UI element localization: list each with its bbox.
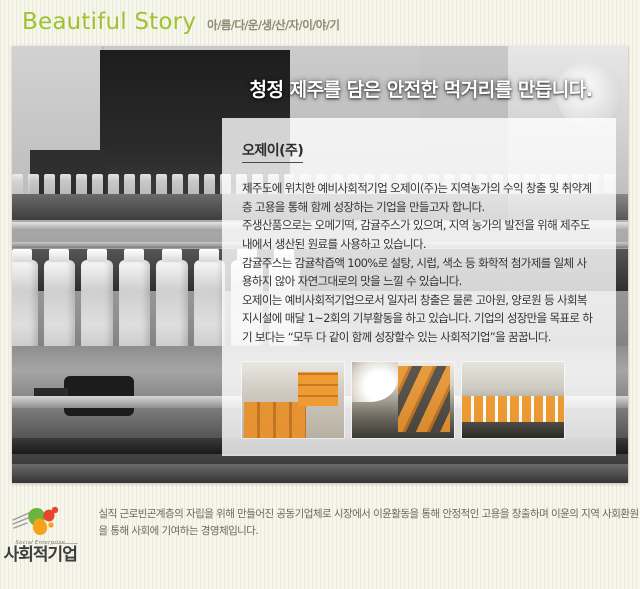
brand-subtitle: 아/름/다/운/생/산/자/이/야/기: [207, 17, 339, 33]
thumbnail-warehouse-boxes[interactable]: [242, 362, 344, 438]
thumbnail-gallery: [242, 362, 564, 438]
butterfly-logo-icon: [11, 504, 69, 538]
hero-headline: 청정 제주를 담은 안전한 먹거리를 만듭니다.: [222, 75, 620, 102]
footer-description: 실직 근로빈곤계층의 자립을 위해 만들어진 공동기업체로 시장에서 이윤활동을…: [98, 504, 640, 540]
social-enterprise-logo: Social Enterprise 사회적기업: [0, 504, 80, 564]
description-paragraph-2: 주생산품으로는 오메기떡, 감귤주스가 있으며, 지역 농가의 발전을 위해 제…: [242, 216, 596, 253]
logo-english-label: Social Enterprise: [0, 540, 80, 546]
thumbnail-production-machine[interactable]: [352, 362, 454, 438]
photo-lower-rail-c: [12, 464, 628, 483]
company-description: 제주도에 위치한 예비사회적기업 오제이(주)는 지역농가의 수익 창출 및 취…: [242, 179, 596, 347]
logo-korean-label: 사회적기업: [0, 547, 80, 564]
description-paragraph-4: 오제이는 예비사회적기업으로서 일자리 창출은 물론 고아원, 양로원 등 사회…: [242, 291, 596, 347]
thumbnail-bottling-conveyor[interactable]: [462, 362, 564, 438]
page-header: Beautiful Story 아/름/다/운/생/산/자/이/야/기: [0, 0, 640, 45]
description-paragraph-1: 제주도에 위치한 예비사회적기업 오제이(주)는 지역농가의 수익 창출 및 취…: [242, 179, 596, 216]
page-footer: Social Enterprise 사회적기업 실직 근로빈곤계층의 자립을 위…: [0, 492, 640, 589]
brand-title: Beautiful Story: [22, 11, 196, 34]
footer-description-text: 실직 근로빈곤계층의 자립을 위해 만들어진 공동기업체로 시장에서 이윤활동을…: [98, 506, 640, 540]
company-name-title: 오제이(주): [242, 140, 303, 163]
description-paragraph-3: 감귤주스는 감귤착즙액 100%로 설탕, 시럽, 색소 등 화학적 첨가제를 …: [242, 254, 596, 291]
